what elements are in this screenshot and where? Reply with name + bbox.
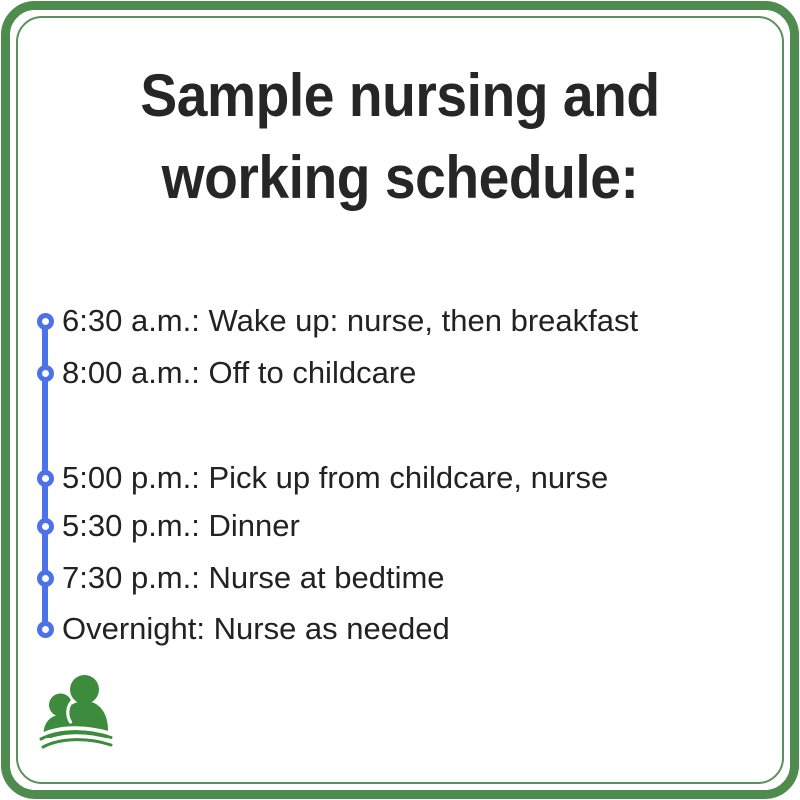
timeline-marker-icon — [37, 313, 54, 330]
timeline-marker-icon — [37, 621, 54, 638]
timeline-marker-icon — [37, 365, 54, 382]
timeline-marker-icon — [37, 470, 54, 487]
timeline-marker-icon — [37, 518, 54, 535]
timeline-item-label: 8:00 a.m.: Off to childcare — [62, 355, 416, 391]
timeline-marker-icon — [37, 570, 54, 587]
timeline-item[interactable]: Overnight: Nurse as needed — [0, 605, 800, 653]
timeline-item[interactable]: 5:30 p.m.: Dinner — [0, 502, 800, 550]
timeline-item-label: 5:00 p.m.: Pick up from childcare, nurse — [62, 460, 608, 496]
timeline-item-label: 5:30 p.m.: Dinner — [62, 508, 300, 544]
schedule-timeline: 6:30 a.m.: Wake up: nurse, then breakfas… — [0, 0, 800, 800]
mother-and-child-logo — [36, 672, 116, 754]
timeline-item[interactable]: 5:00 p.m.: Pick up from childcare, nurse — [0, 454, 800, 502]
timeline-item-label: 6:30 a.m.: Wake up: nurse, then breakfas… — [62, 303, 638, 339]
schedule-card: Sample nursing and working schedule: 6:3… — [0, 0, 800, 800]
timeline-item[interactable]: 6:30 a.m.: Wake up: nurse, then breakfas… — [0, 297, 800, 345]
timeline-item-label: Overnight: Nurse as needed — [62, 611, 450, 647]
timeline-item[interactable]: 8:00 a.m.: Off to childcare — [0, 349, 800, 397]
timeline-item-label: 7:30 p.m.: Nurse at bedtime — [62, 560, 445, 596]
card-content: Sample nursing and working schedule: 6:3… — [0, 0, 800, 800]
timeline-item[interactable]: 7:30 p.m.: Nurse at bedtime — [0, 554, 800, 602]
